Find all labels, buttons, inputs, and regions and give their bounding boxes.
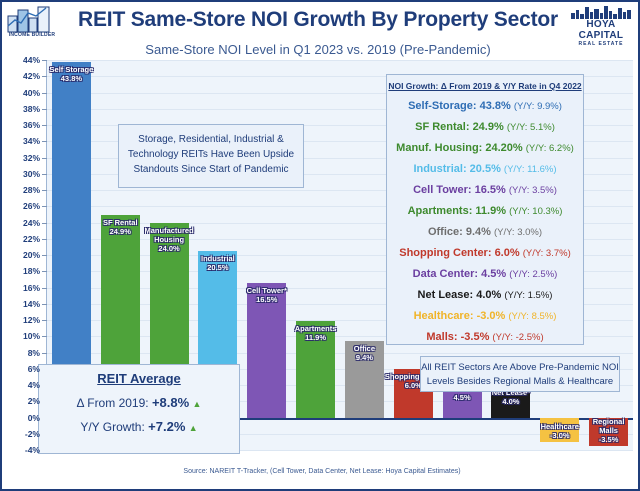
bar-label: Cell Tower*16.5% bbox=[238, 286, 295, 304]
legend-row-value: 24.20% bbox=[485, 142, 525, 154]
y-axis-label: 38% bbox=[2, 104, 40, 114]
bar-label-name: Apartments bbox=[287, 324, 344, 333]
legend-row-value: 16.5% bbox=[475, 184, 509, 196]
note2-line-1: All REIT Sectors Are Above Pre-Pandemic … bbox=[421, 361, 619, 375]
hoya-capital-name: HOYA CAPITAL bbox=[567, 19, 635, 41]
legend-row-yy: (Y/Y: -2.5%) bbox=[492, 332, 543, 343]
y-axis-label: 30% bbox=[2, 169, 40, 179]
y-tick bbox=[42, 320, 47, 321]
noi-growth-legend: NOI Growth: Δ From 2019 & Y/Y Rate in Q4… bbox=[386, 74, 584, 345]
y-tick bbox=[42, 353, 47, 354]
y-axis-label: 12% bbox=[2, 315, 40, 325]
income-builder-logo: INCOME BUILDER bbox=[6, 4, 58, 44]
legend-heading: NOI Growth: Δ From 2019 & Y/Y Rate in Q4… bbox=[387, 81, 583, 91]
bar-label: Apartments11.9% bbox=[287, 324, 344, 342]
bar-label-value: 11.9% bbox=[287, 333, 344, 342]
bar-label-value: 4.0% bbox=[483, 397, 540, 406]
legend-row-value: 6.0% bbox=[495, 247, 523, 259]
legend-row-yy: (Y/Y: 5.1%) bbox=[507, 122, 555, 133]
legend-row-value: 4.5% bbox=[481, 268, 509, 280]
bar-label-value: -3.5% bbox=[580, 435, 637, 444]
y-axis-label: 34% bbox=[2, 136, 40, 146]
reit-average-box: REIT Average Δ From 2019: +8.8% ▲ Y/Y Gr… bbox=[38, 364, 240, 454]
bar-label-value: 9.4% bbox=[336, 353, 393, 362]
legend-row-value: 4.0% bbox=[476, 289, 504, 301]
legend-row-name: Data Center: bbox=[413, 268, 481, 280]
y-axis-label: 14% bbox=[2, 299, 40, 309]
legend-row-value: 11.9% bbox=[475, 205, 509, 217]
y-axis-label: 22% bbox=[2, 234, 40, 244]
y-tick bbox=[42, 206, 47, 207]
y-axis-label: 4% bbox=[2, 380, 40, 390]
legend-row-yy: (Y/Y: 3.0%) bbox=[494, 227, 542, 238]
bar-label: Industrial20.5% bbox=[190, 254, 247, 272]
y-tick bbox=[42, 304, 47, 305]
chart-title: REIT Same-Store NOI Growth By Property S… bbox=[62, 8, 574, 32]
legend-row-yy: (Y/Y: 11.6%) bbox=[504, 164, 557, 175]
chart-subtitle: Same-Store NOI Level in Q1 2023 vs. 2019… bbox=[62, 42, 574, 57]
legend-row-value: 9.4% bbox=[466, 226, 494, 238]
legend-row: Net Lease: 4.0% (Y/Y: 1.5%) bbox=[387, 285, 583, 306]
bar-label: ManufacturedHousing24.0% bbox=[141, 226, 198, 253]
y-tick bbox=[42, 190, 47, 191]
y-axis-label: 24% bbox=[2, 218, 40, 228]
y-tick bbox=[42, 125, 47, 126]
y-axis-label: -2% bbox=[2, 429, 40, 439]
legend-row: Self-Storage: 43.8% (Y/Y: 9.9%) bbox=[387, 96, 583, 117]
reit-average-delta-row: Δ From 2019: +8.8% ▲ bbox=[39, 395, 239, 410]
y-tick bbox=[42, 223, 47, 224]
y-tick bbox=[42, 174, 47, 175]
bar-label-value: 43.8% bbox=[43, 74, 100, 83]
legend-row-name: Self-Storage: bbox=[408, 100, 480, 112]
bar-label-name: Malls bbox=[580, 426, 637, 435]
bar-label-name: Regional bbox=[580, 417, 637, 426]
y-axis-label: -4% bbox=[2, 445, 40, 455]
reit-average-yy-value: +7.2% bbox=[148, 419, 185, 434]
legend-row: Manuf. Housing: 24.20% (Y/Y: 6.2%) bbox=[387, 138, 583, 159]
legend-row-name: Malls: bbox=[426, 331, 460, 343]
note1-line-1: Storage, Residential, Industrial & bbox=[119, 132, 303, 147]
y-tick bbox=[42, 336, 47, 337]
y-axis-label: 2% bbox=[2, 396, 40, 406]
annotation-above-prepandemic: All REIT Sectors Are Above Pre-Pandemic … bbox=[420, 356, 620, 392]
legend-row: Data Center: 4.5% (Y/Y: 2.5%) bbox=[387, 264, 583, 285]
legend-row-yy: (Y/Y: 3.7%) bbox=[523, 248, 571, 259]
legend-row-yy: (Y/Y: 6.2%) bbox=[526, 143, 574, 154]
legend-row: Shopping Center: 6.0% (Y/Y: 3.7%) bbox=[387, 243, 583, 264]
legend-row-name: Manuf. Housing: bbox=[396, 142, 485, 154]
up-arrow-icon-2: ▲ bbox=[189, 423, 198, 433]
legend-row-name: Apartments: bbox=[408, 205, 476, 217]
income-builder-mark bbox=[6, 4, 58, 34]
chart-page: INCOME BUILDER HOYA CAPITAL REAL ESTATE … bbox=[0, 0, 640, 491]
legend-row-name: Industrial: bbox=[413, 163, 469, 175]
reit-average-delta-label: Δ From 2019: bbox=[77, 396, 149, 410]
y-tick bbox=[42, 93, 47, 94]
bar-label-value: 24.0% bbox=[141, 244, 198, 253]
reit-average-heading: REIT Average bbox=[39, 371, 239, 386]
legend-row: Office: 9.4% (Y/Y: 3.0%) bbox=[387, 222, 583, 243]
y-axis-label: 8% bbox=[2, 348, 40, 358]
y-tick bbox=[42, 288, 47, 289]
legend-row-yy: (Y/Y: 1.5%) bbox=[504, 290, 552, 301]
reit-average-yy-label: Y/Y Growth: bbox=[80, 420, 144, 434]
legend-row-value: 20.5% bbox=[470, 163, 504, 175]
bar-label-value: 20.5% bbox=[190, 263, 247, 272]
legend-row-value: -3.5% bbox=[461, 331, 493, 343]
skyline-icon bbox=[570, 5, 632, 19]
bar-label: RegionalMalls-3.5% bbox=[580, 417, 637, 444]
up-arrow-icon: ▲ bbox=[193, 399, 202, 409]
note1-line-3: Standouts Since Start of Pandemic bbox=[119, 162, 303, 177]
legend-row-yy: (Y/Y: 8.5%) bbox=[508, 311, 556, 322]
legend-row-yy: (Y/Y: 3.5%) bbox=[509, 185, 557, 196]
legend-row-yy: (Y/Y: 10.3%) bbox=[509, 206, 562, 217]
y-axis-label: 44% bbox=[2, 55, 40, 65]
hoya-capital-logo: HOYA CAPITAL REAL ESTATE bbox=[567, 5, 635, 45]
bar-label-name: Office bbox=[336, 344, 393, 353]
y-tick bbox=[42, 271, 47, 272]
y-tick bbox=[42, 60, 47, 61]
bar-label-name: Cell Tower* bbox=[238, 286, 295, 295]
y-axis-label: 26% bbox=[2, 201, 40, 211]
bar-label-name: Manufactured bbox=[141, 226, 198, 235]
bar-label-name: Self Storage bbox=[43, 65, 100, 74]
legend-row-name: SF Rental: bbox=[415, 121, 472, 133]
y-axis-label: 0% bbox=[2, 413, 40, 423]
bar-label: Self Storage43.8% bbox=[43, 65, 100, 83]
y-tick bbox=[42, 109, 47, 110]
legend-row: SF Rental: 24.9% (Y/Y: 5.1%) bbox=[387, 117, 583, 138]
y-axis-label: 6% bbox=[2, 364, 40, 374]
legend-row-value: -3.0% bbox=[477, 310, 509, 322]
legend-rows: Self-Storage: 43.8% (Y/Y: 9.9%)SF Rental… bbox=[387, 96, 583, 348]
y-axis-label: 28% bbox=[2, 185, 40, 195]
y-tick bbox=[42, 158, 47, 159]
y-axis-label: 36% bbox=[2, 120, 40, 130]
note1-line-2: Technology REITs Have Been Upside bbox=[119, 147, 303, 162]
legend-row: Industrial: 20.5% (Y/Y: 11.6%) bbox=[387, 159, 583, 180]
legend-row: Malls: -3.5% (Y/Y: -2.5%) bbox=[387, 327, 583, 348]
hoya-capital-sub: REAL ESTATE bbox=[567, 41, 635, 48]
legend-row-yy: (Y/Y: 2.5%) bbox=[509, 269, 557, 280]
y-axis-label: 10% bbox=[2, 331, 40, 341]
legend-row: Cell Tower: 16.5% (Y/Y: 3.5%) bbox=[387, 180, 583, 201]
y-axis-label: 16% bbox=[2, 283, 40, 293]
y-axis-label: 20% bbox=[2, 250, 40, 260]
reit-average-yy-row: Y/Y Growth: +7.2% ▲ bbox=[39, 419, 239, 434]
legend-row-name: Healthcare: bbox=[414, 310, 477, 322]
y-tick bbox=[42, 255, 47, 256]
y-axis-label: 18% bbox=[2, 266, 40, 276]
y-tick bbox=[42, 141, 47, 142]
bar-label: Office9.4% bbox=[336, 344, 393, 362]
legend-row-value: 43.8% bbox=[480, 100, 514, 112]
legend-row: Healthcare: -3.0% (Y/Y: 8.5%) bbox=[387, 306, 583, 327]
bar-label-name: Housing bbox=[141, 235, 198, 244]
legend-row-yy: (Y/Y: 9.9%) bbox=[514, 101, 562, 112]
reit-average-delta-value: +8.8% bbox=[152, 395, 189, 410]
legend-row: Apartments: 11.9% (Y/Y: 10.3%) bbox=[387, 201, 583, 222]
legend-row-value: 24.9% bbox=[473, 121, 507, 133]
legend-row-name: Shopping Center: bbox=[399, 247, 494, 259]
bar-label-name: Industrial bbox=[190, 254, 247, 263]
annotation-upside-standouts: Storage, Residential, Industrial & Techn… bbox=[118, 124, 304, 188]
legend-row-name: Net Lease: bbox=[418, 289, 477, 301]
note2-line-2: Levels Besides Regional Malls & Healthca… bbox=[421, 375, 619, 389]
legend-row-name: Cell Tower: bbox=[413, 184, 475, 196]
gridline bbox=[47, 60, 633, 61]
source-note: Source: NAREIT T-Tracker, (Cell Tower, D… bbox=[2, 468, 640, 475]
y-tick bbox=[42, 239, 47, 240]
legend-row-name: Office: bbox=[428, 226, 466, 238]
bar-label-value: 16.5% bbox=[238, 295, 295, 304]
y-axis-label: 40% bbox=[2, 88, 40, 98]
y-axis-label: 42% bbox=[2, 71, 40, 81]
income-builder-label: INCOME BUILDER bbox=[6, 32, 58, 38]
y-axis-label: 32% bbox=[2, 153, 40, 163]
